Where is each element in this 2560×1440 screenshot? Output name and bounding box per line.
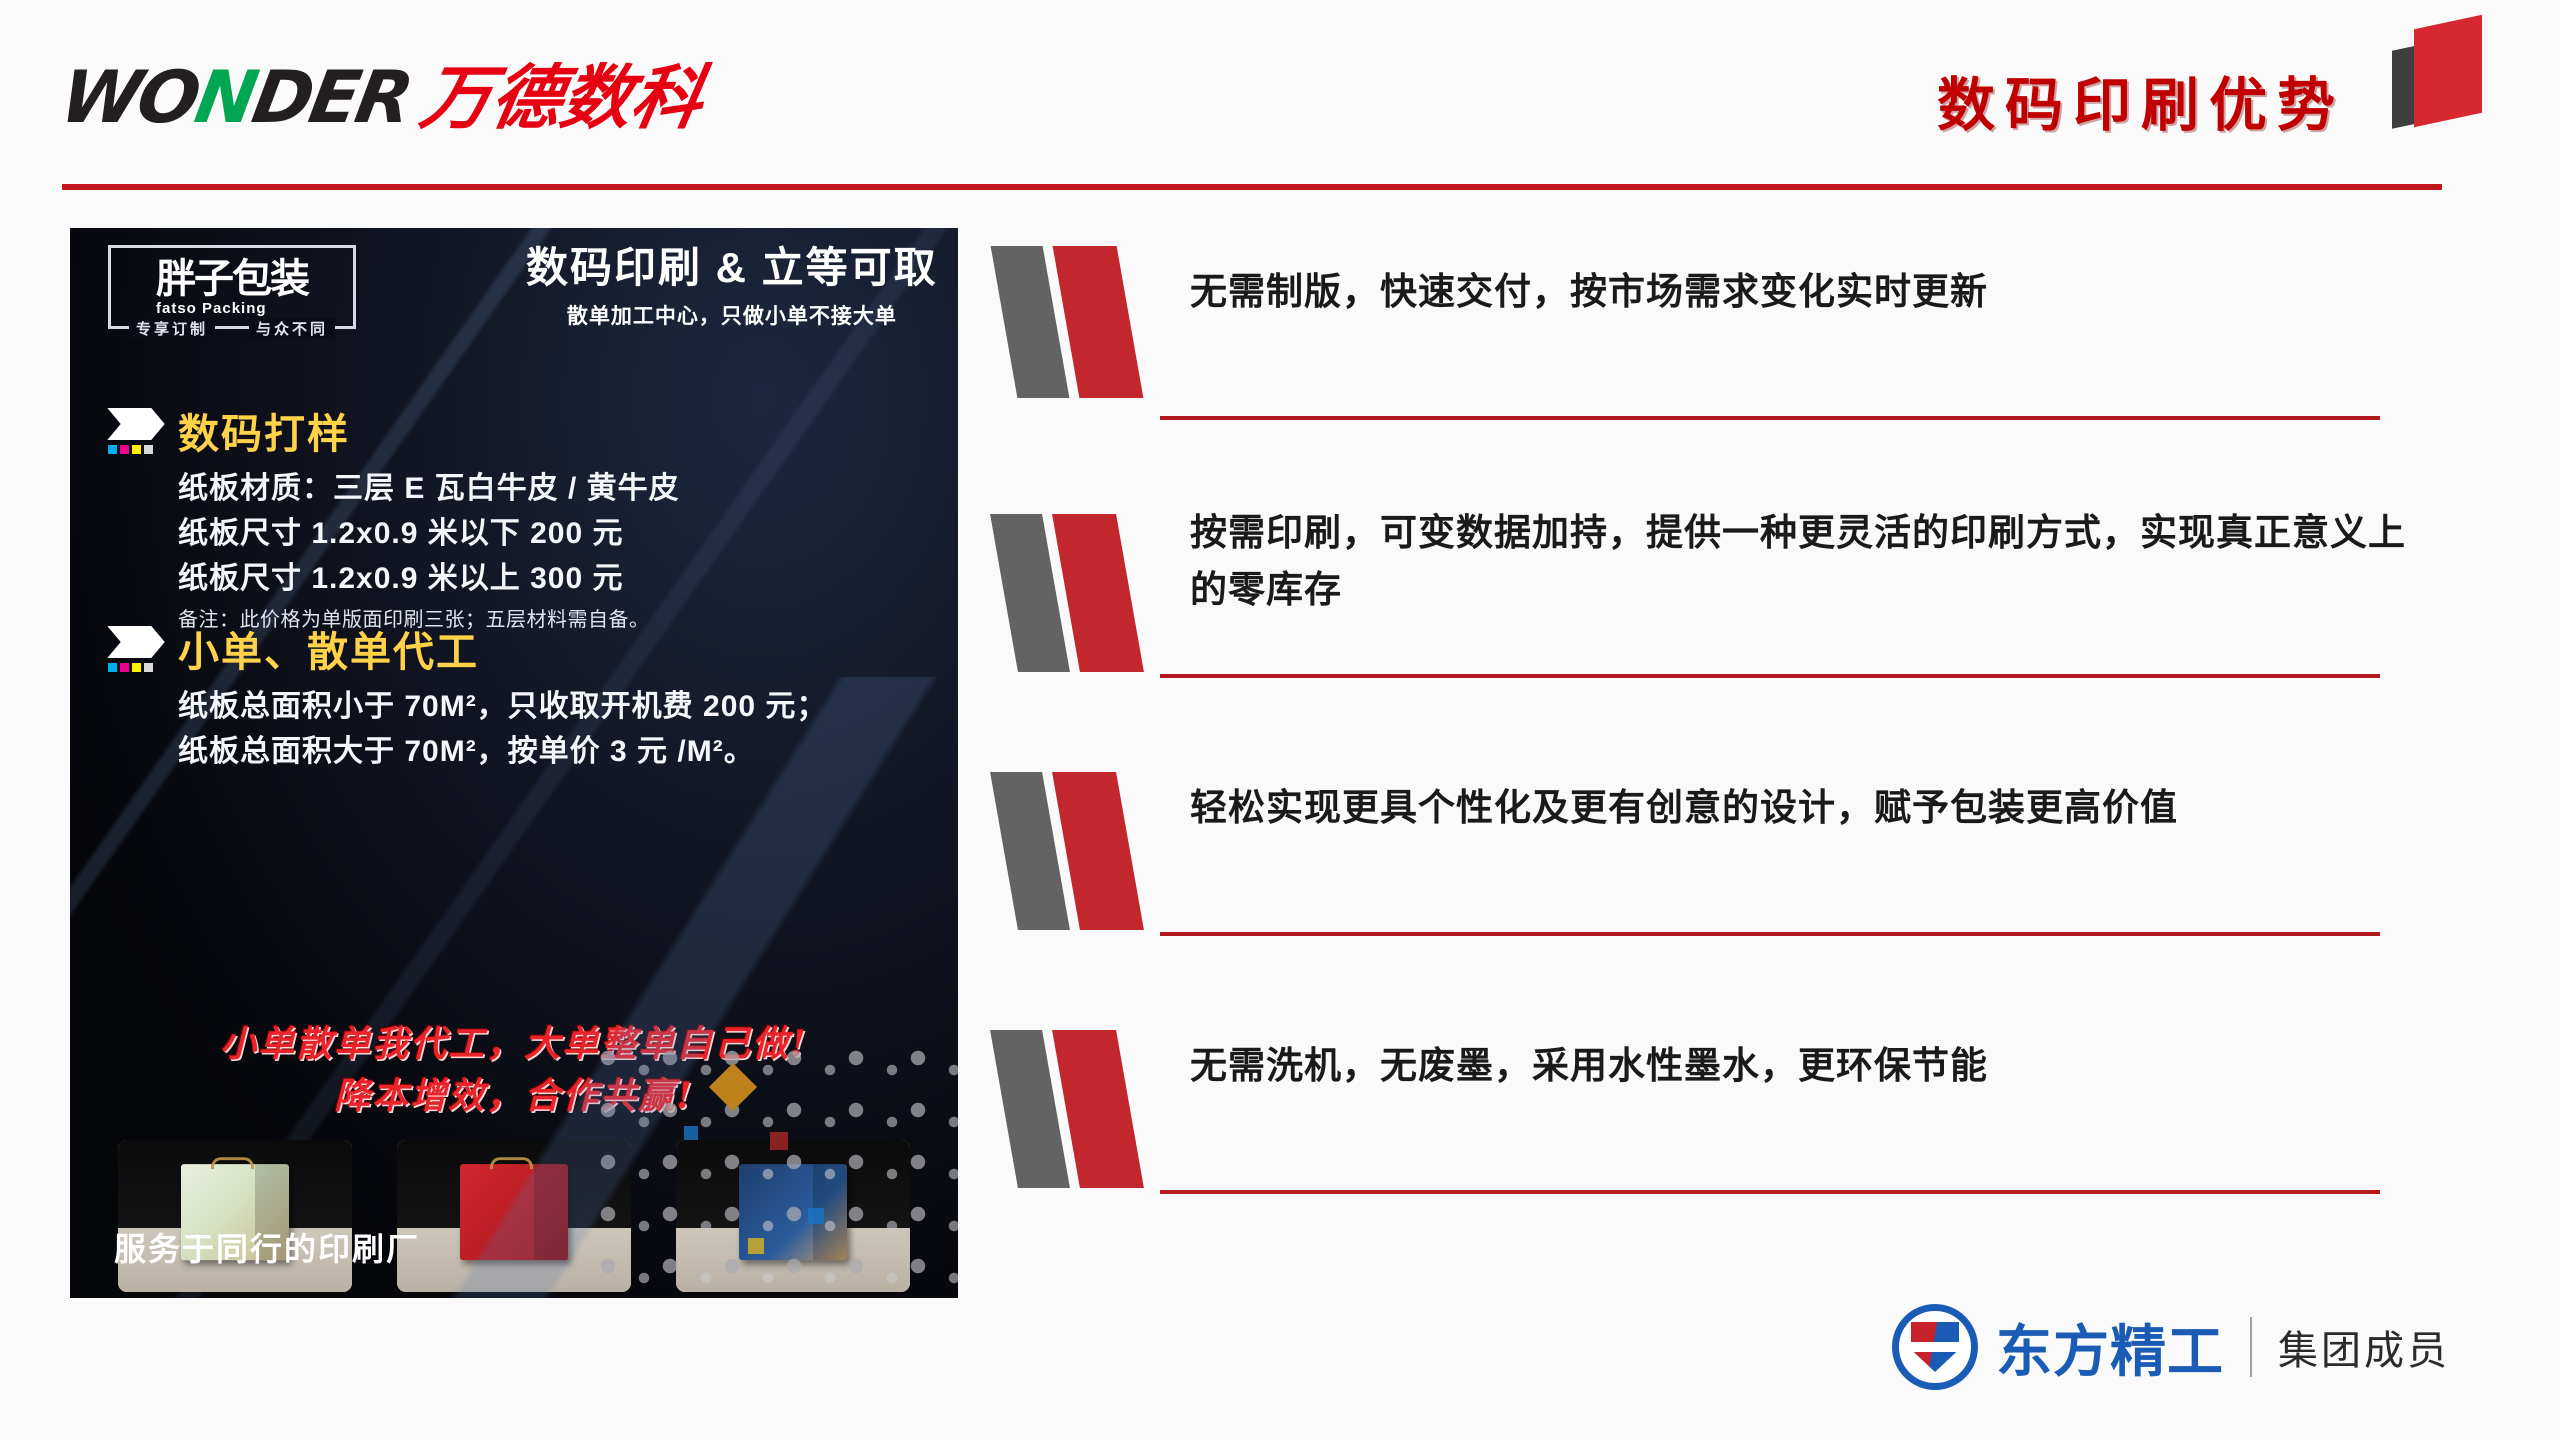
cmyk-dot-yellow (132, 445, 141, 454)
slide-root: WONDER 万德数科 数码印刷优势 胖子包装 fatso Packing 专享… (0, 0, 2560, 1440)
cmyk-dot-key (144, 445, 153, 454)
box-side-face (534, 1164, 568, 1260)
chevron-bars-icon (1000, 514, 1160, 672)
box-handle (211, 1157, 254, 1169)
footer-member-label: 集团成员 (2278, 1318, 2450, 1376)
dot-accent-blue (684, 1126, 698, 1140)
header-divider-rule (62, 184, 2442, 190)
poster-section-1-line-1: 纸板材质：三层 E 瓦白牛皮 / 黄牛皮 (178, 466, 936, 511)
chevron-bars-icon (1000, 772, 1160, 930)
brand-cn-wordmark: 万德数科 (414, 42, 712, 143)
poster-section-1-line-2: 纸板尺寸 1.2x0.9 米以下 200 元 (178, 511, 936, 556)
fatso-badge-cn2: 包装 (232, 257, 308, 301)
poster-section-digital-proofing: 数码打样 纸板材质：三层 E 瓦白牛皮 / 黄牛皮 纸板尺寸 1.2x0.9 米… (106, 400, 936, 635)
poster-section-2-title-row: 小单、散单代工 (106, 618, 936, 678)
poster-slogan-line-2: 降本增效，合作共赢! (70, 1070, 958, 1122)
advantage-text: 按需印刷，可变数据加持，提供一种更灵活的印刷方式，实现真正意义上的零库存 (1190, 498, 2420, 635)
cmyk-arrow-icon (106, 624, 168, 672)
dongfang-jinggong-footer-logo: 东方精工 集团成员 (1892, 1304, 2450, 1390)
product-box (460, 1164, 568, 1260)
dongfang-shield-icon (1892, 1304, 1978, 1390)
advantage-item: 无需制版，快速交付，按市场需求变化实时更新 (1000, 240, 2420, 420)
cmyk-dot-magenta (120, 445, 129, 454)
brand-en-part-3: DER (246, 55, 416, 139)
arrow-lower-stroke (107, 642, 164, 658)
advantages-list: 无需制版，快速交付，按市场需求变化实时更新 按需印刷，可变数据加持，提供一种更灵… (1000, 240, 2420, 1272)
advantage-underline (1160, 932, 2380, 936)
fatso-badge-name: 胖子包装 fatso Packing (156, 259, 308, 316)
poster-headline: 数码印刷 & 立等可取 (526, 244, 938, 292)
poster-section-1-line-3: 纸板尺寸 1.2x0.9 米以上 300 元 (178, 556, 936, 601)
advantage-underline (1160, 674, 2380, 678)
wonder-brand-logo: WONDER 万德数科 (62, 42, 703, 143)
advantage-underline (1160, 416, 2380, 420)
box-side-face (813, 1164, 847, 1260)
poster-header: 胖子包装 fatso Packing 专享订制 与众不同 数码印刷 & 立等可取… (70, 228, 958, 346)
brand-en-part-1: WO (55, 55, 204, 139)
brand-en-wordmark: WONDER (55, 55, 417, 139)
page-title: 数码印刷优势 (1937, 58, 2345, 142)
fatso-packing-badge: 胖子包装 fatso Packing 专享订制 与众不同 (108, 245, 356, 329)
promo-poster-image: 胖子包装 fatso Packing 专享订制 与众不同 数码印刷 & 立等可取… (70, 228, 958, 1298)
advantage-underline (1160, 1190, 2380, 1194)
poster-section-2-line-1: 纸板总面积小于 70M²，只收取开机费 200 元； (178, 684, 936, 729)
cmyk-dot-key (144, 663, 153, 672)
chevron-bars-icon (1000, 246, 1160, 398)
product-photo (676, 1140, 910, 1292)
corner-red-bar (2414, 15, 2482, 127)
poster-section-small-batch: 小单、散单代工 纸板总面积小于 70M²，只收取开机费 200 元； 纸板总面积… (106, 618, 936, 774)
cmyk-dot-yellow (132, 663, 141, 672)
poster-headline-block: 数码印刷 & 立等可取 散单加工中心，只做小单不接大单 (526, 244, 938, 329)
product-photo (397, 1140, 631, 1292)
advantage-item: 轻松实现更具个性化及更有创意的设计，赋予包装更高价值 (1000, 756, 2420, 936)
poster-section-2-title: 小单、散单代工 (178, 618, 479, 678)
product-box (739, 1164, 847, 1260)
cmyk-arrow-icon (106, 406, 168, 454)
chevron-bars-icon (1000, 1030, 1160, 1188)
footer-company-name: 东方精工 (1996, 1307, 2224, 1388)
fatso-badge-cn: 胖子 (156, 257, 232, 301)
footer-divider (2250, 1317, 2252, 1377)
corner-ribbon-decoration (2390, 8, 2500, 126)
arrow-lower-stroke (107, 424, 164, 440)
arrow-upper-stroke (107, 408, 164, 424)
poster-slogan-line-1: 小单散单我代工，大单整单自己做! (70, 1018, 958, 1070)
advantage-item: 无需洗机，无废墨，采用水性墨水，更环保节能 (1000, 1014, 2420, 1194)
poster-section-2-line-2: 纸板总面积大于 70M²，按单价 3 元 /M²。 (178, 729, 936, 774)
cmyk-dot-magenta (120, 663, 129, 672)
poster-subheadline: 散单加工中心，只做小单不接大单 (526, 300, 938, 330)
poster-section-1-title-row: 数码打样 (106, 400, 936, 460)
chevron-red-bar (1053, 246, 1144, 398)
poster-slogan: 小单散单我代工，大单整单自己做! 降本增效，合作共赢! (70, 1018, 958, 1122)
arrow-upper-stroke (107, 626, 164, 642)
advantage-text: 轻松实现更具个性化及更有创意的设计，赋予包装更高价值 (1190, 756, 2420, 876)
advantage-text: 无需洗机，无废墨，采用水性墨水，更环保节能 (1190, 1014, 2420, 1134)
advantage-text: 无需制版，快速交付，按市场需求变化实时更新 (1190, 240, 2420, 360)
box-handle (490, 1157, 533, 1169)
poster-section-1-title: 数码打样 (178, 400, 350, 460)
fatso-badge-tag-right: 与众不同 (249, 318, 335, 339)
fatso-badge-en: fatso Packing (156, 301, 308, 316)
cmyk-dot-cyan (108, 663, 117, 672)
advantage-item: 按需印刷，可变数据加持，提供一种更灵活的印刷方式，实现真正意义上的零库存 (1000, 498, 2420, 678)
cmyk-dot-cyan (108, 445, 117, 454)
poster-footer-text: 服务于同行的印刷厂 (114, 1224, 420, 1270)
fatso-badge-tag-left: 专享订制 (129, 318, 215, 339)
product-photo-grid (118, 1140, 910, 1298)
